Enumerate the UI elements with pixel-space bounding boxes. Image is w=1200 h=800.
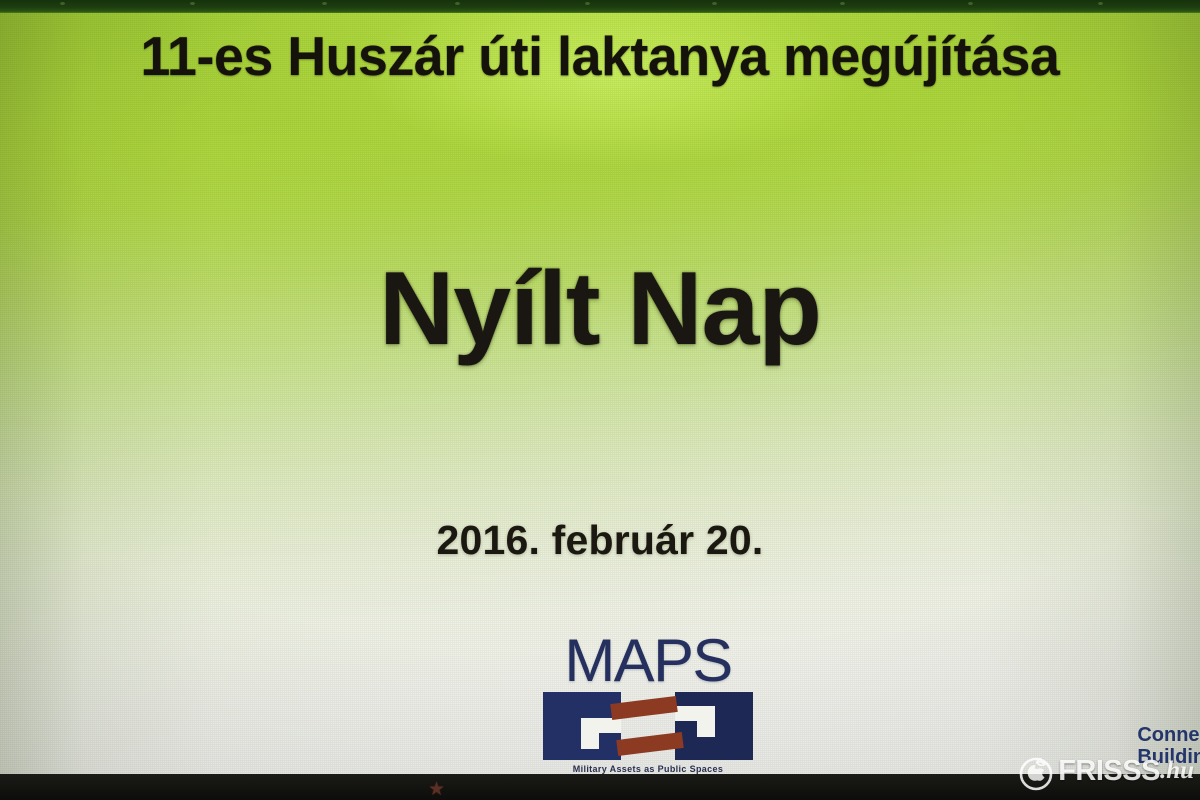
top-dark-band <box>0 0 1200 13</box>
slide-heading: Nyílt Nap <box>0 250 1200 369</box>
slogan-line-1: Connect <box>1137 724 1200 746</box>
logo-bar-bottom <box>616 732 683 756</box>
maps-tagline: Military Assets as Public Spaces <box>543 764 753 774</box>
apple-icon <box>1016 750 1056 792</box>
frisss-watermark: FRISSS .hu <box>1016 750 1194 792</box>
maps-wordmark: MAPS <box>541 632 755 690</box>
logo-notch-left-upper <box>581 718 621 733</box>
maps-logo: MAPS Military Assets as Public Spaces <box>543 632 753 774</box>
watermark-name: FRISSS <box>1058 755 1160 788</box>
watermark-tld: .hu <box>1160 757 1194 785</box>
slide-date: 2016. február 20. <box>0 517 1200 564</box>
star-mark: ★ <box>428 780 445 799</box>
logo-notch-right-upper <box>675 706 715 721</box>
projected-slide-photo: 11-es Huszár úti laktanya megújítása Nyí… <box>0 0 1200 800</box>
slide-surface: 11-es Huszár úti laktanya megújítása Nyí… <box>0 12 1200 775</box>
slide-title: 11-es Huszár úti laktanya megújítása <box>15 24 1185 88</box>
logo-notch-left-lower <box>581 733 599 749</box>
logo-notch-right-lower <box>697 721 715 737</box>
maps-logo-mark <box>543 692 753 760</box>
